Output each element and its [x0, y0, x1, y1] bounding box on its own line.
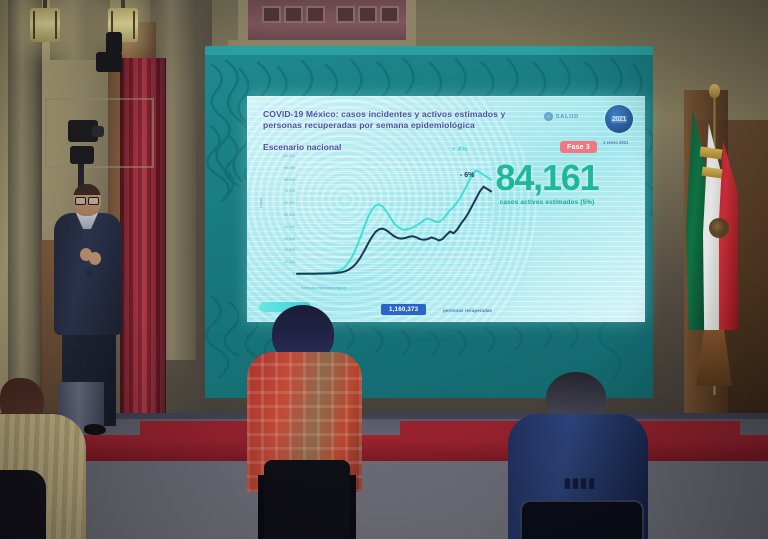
- flag-green-stripe: [686, 110, 705, 330]
- jacket-back-text: ▮▮▮▮: [540, 475, 620, 491]
- chart-y-axis-label: Casos: [259, 198, 263, 208]
- chart-y-tick: 20,000: [265, 248, 295, 252]
- camera-icon: [106, 32, 122, 54]
- red-carpet-strip: [400, 421, 520, 443]
- year-badge-icon: 2021: [605, 105, 633, 133]
- chart-y-tick: 90,000: [265, 166, 295, 170]
- stone-pillar-1: [8, 0, 42, 420]
- backdrop-top-edge: [205, 46, 653, 55]
- camera-icon: [70, 146, 94, 164]
- chart-y-tick: 0: [265, 272, 295, 276]
- recovered-total-badge: 1,160,373: [381, 304, 426, 315]
- audience-chair: [264, 460, 350, 539]
- salud-eagle-icon: [544, 112, 553, 121]
- epidemic-curve-chart: Casos 100,00090,00080,00070,00060,00050,…: [261, 156, 491, 296]
- chart-y-tick: 30,000: [265, 237, 295, 241]
- background-person-shoe: [84, 424, 106, 435]
- annotation-down: - 6%: [460, 172, 474, 179]
- audience-member-left-shadow: [0, 470, 46, 539]
- chart-x-axis-label: Semana epidemiológica: [301, 286, 346, 290]
- wall-lamp-icon: [30, 8, 60, 42]
- chart-y-tick: 50,000: [265, 213, 295, 217]
- badge-date-label: 1 enero 2021: [603, 140, 633, 146]
- mexican-flag: [686, 110, 742, 330]
- chart-y-tick: 100,000: [265, 154, 295, 158]
- audience-chair: [520, 500, 644, 539]
- slide-title: COVID-19 México: casos incidentes y acti…: [263, 109, 541, 132]
- phase-badge: Fase 3: [560, 141, 597, 153]
- flag-eagle-emblem-icon: [709, 218, 729, 238]
- salud-logo: SALUD: [544, 112, 579, 121]
- slide-subtitle: Escenario nacional: [263, 142, 341, 152]
- chart-y-tick: 70,000: [265, 189, 295, 193]
- chart-y-tick: 40,000: [265, 225, 295, 229]
- flag-finial-icon: [709, 84, 720, 98]
- year-badge-label: 2021: [611, 116, 627, 123]
- annotation-up: + 4%: [452, 146, 467, 153]
- camera-icon: [96, 52, 122, 72]
- chart-y-tick: 10,000: [265, 260, 295, 264]
- chart-y-tick: 60,000: [265, 201, 295, 205]
- chart-line-casos-incidentes-estimados: [297, 187, 491, 274]
- recovered-total-caption: personas recuperadas: [443, 308, 492, 313]
- presenter-hand: [89, 252, 101, 265]
- camera-lens-icon: [92, 126, 104, 137]
- salud-logo-text: SALUD: [556, 114, 579, 120]
- chart-y-tick: 80,000: [265, 178, 295, 182]
- presenter-glasses-icon: [75, 197, 99, 203]
- press-conference-screenshot: COVID-19 México: casos incidentes y acti…: [0, 0, 768, 539]
- projection-slide: COVID-19 México: casos incidentes y acti…: [247, 96, 645, 322]
